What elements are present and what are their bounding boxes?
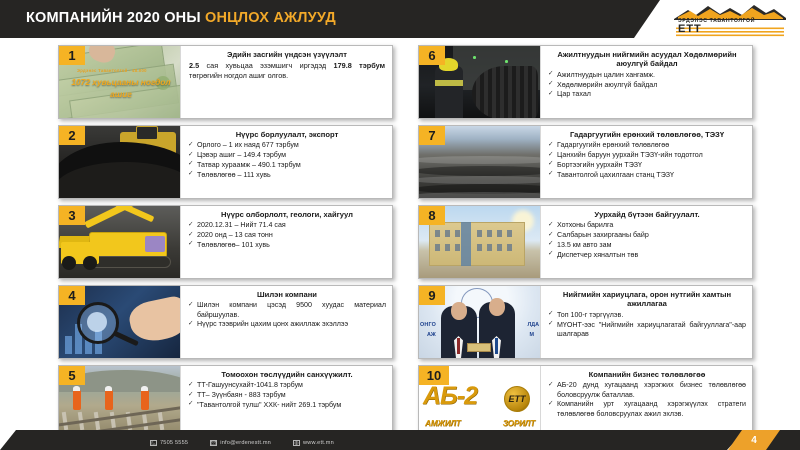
highlight-card-2[interactable]: 2 Нүүрс борлуулалт, экспорт ✓Орлого – 1 … xyxy=(58,125,393,199)
card-5-title: Томоохон төслүүдийн санхүүжилт. xyxy=(188,370,386,379)
card-2-image: 2 xyxy=(59,126,181,198)
list-item: ✓2020.12.31 – Нийт 71.4 сая xyxy=(188,221,386,230)
card-9-image-text-right2: М xyxy=(530,332,535,338)
card-3-title: Нүүрс олборлолт, геологи, хайгуул xyxy=(188,210,386,219)
check-icon: ✓ xyxy=(188,151,194,160)
highlight-card-3[interactable]: 3 Нүүрс олборлолт, геологи, хайгуул ✓202… xyxy=(58,205,393,279)
right-column: 6 Ажилтнуудын нийгмийн асуудал Хөдөлмөри… xyxy=(418,45,753,445)
page-title-plain: КОМПАНИЙН 2020 ОНЫ xyxy=(26,10,205,26)
card-3-bullets: ✓2020.12.31 – Нийт 71.4 сая ✓2020 онд – … xyxy=(188,221,386,250)
footer-website-label: www.ett.mn xyxy=(303,440,334,446)
card-6-bullets: ✓Ажилтнуудын цалин хангамж. ✓Хөдөлмөрийн… xyxy=(548,71,746,100)
card-10-bullets: ✓АБ-20 дунд хугацаанд хэрэгжих бизнес тө… xyxy=(548,381,746,419)
page-title-highlight: ОНЦЛОХ АЖЛУУД xyxy=(205,10,336,26)
card-4-number-badge: 4 xyxy=(59,286,85,305)
list-item-label: Компанийн урт хугацаанд хэрэгжүүлэх стра… xyxy=(557,400,746,417)
check-icon: ✓ xyxy=(548,250,554,259)
card-1-title: Эдийн засгийн үндсэн үзүүлэлт xyxy=(188,50,386,59)
ett-seal-label: ETT xyxy=(505,387,529,411)
card-6-image: 6 xyxy=(419,46,541,118)
check-icon: ✓ xyxy=(188,391,194,400)
list-item: ✓Диспетчер хяналтын төв xyxy=(548,251,746,260)
check-icon: ✓ xyxy=(548,141,554,150)
list-item: ✓Цар тахал xyxy=(548,90,746,99)
list-item-label: Цар тахал xyxy=(557,90,591,98)
list-item: ✓Хотхоны барилга xyxy=(548,221,746,230)
card-9-image-text-left: ОНГО xyxy=(420,322,436,328)
check-icon: ✓ xyxy=(548,160,554,169)
check-icon: ✓ xyxy=(548,221,554,230)
list-item-label: Нүүрс тээврийн цахим цонх ажиллаж эхэллэ… xyxy=(197,320,348,328)
card-5-body: Томоохон төслүүдийн санхүүжилт. ✓ТТ-Гашу… xyxy=(181,366,392,438)
card-3-number-badge: 3 xyxy=(59,206,85,225)
footer-website: www.ett.mn xyxy=(293,440,334,446)
card-9-image: ОНГО АЖ ЛДА М 9 xyxy=(419,286,541,358)
card-10-title: Компанийн бизнес төлөвлөгөө xyxy=(548,370,746,379)
list-item-label: Салбарын захиргааны байр xyxy=(557,231,649,239)
check-icon: ✓ xyxy=(188,400,194,409)
card-9-number-badge: 9 xyxy=(419,286,445,305)
list-item: ✓ТТ-Гашуунсухайт-1041.8 тэрбум xyxy=(188,381,386,390)
card-6-title: Ажилтнуудын нийгмийн асуудал Хөдөлмөрийн… xyxy=(548,50,746,69)
footer-contact-items: 7505 5555 info@erdenestt.mn www.ett.mn xyxy=(150,440,334,446)
list-item: ✓Хөдөлмөрийн аюулгүй байдал xyxy=(548,81,746,90)
check-icon: ✓ xyxy=(548,231,554,240)
card-3-image: 3 xyxy=(59,206,181,278)
list-item-label: ТТ-Гашуунсухайт-1041.8 тэрбум xyxy=(197,381,303,389)
card-5-image: 5 xyxy=(59,366,181,438)
card-9-image-text-right: ЛДА xyxy=(527,322,539,328)
card-4-body: Шилэн компани ✓Шилэн компани цэсэд 9500 … xyxy=(181,286,392,358)
card-7-image: 7 xyxy=(419,126,541,198)
card-4-title: Шилэн компани xyxy=(188,290,386,299)
check-icon: ✓ xyxy=(188,320,194,329)
card-1-image: Эрдэнэс Тавантолгой - 48.000 1072 хувьца… xyxy=(59,46,181,118)
list-item: ✓Салбарын захиргааны байр xyxy=(548,231,746,240)
list-item-label: Төлөвлөгөө– 101 хувь xyxy=(197,241,270,249)
list-item: ✓Татвар хураамж – 490.1 тэрбум xyxy=(188,161,386,170)
list-item-label: Цэвэр ашиг – 149.4 тэрбум xyxy=(197,151,286,159)
list-item: ✓Тавантолгой цахилгаан станц ТЭЗҮ xyxy=(548,171,746,180)
highlight-card-6[interactable]: 6 Ажилтнуудын нийгмийн асуудал Хөдөлмөри… xyxy=(418,45,753,119)
check-icon: ✓ xyxy=(188,160,194,169)
card-10-body: Компанийн бизнес төлөвлөгөө ✓АБ-20 дунд … xyxy=(541,366,752,438)
card-8-title: Уурхайд бүтээн байгуулалт. xyxy=(548,210,746,219)
card-8-body: Уурхайд бүтээн байгуулалт. ✓Хотхоны бари… xyxy=(541,206,752,278)
list-item: ✓ТТ– Зүүнбаян - 883 тэрбум xyxy=(188,391,386,400)
list-item: ✓Нүүрс тээврийн цахим цонх ажиллаж эхэлл… xyxy=(188,320,386,329)
list-item-label: Топ 100-г тэргүүлэв. xyxy=(557,311,623,319)
card-3-body: Нүүрс олборлолт, геологи, хайгуул ✓2020.… xyxy=(181,206,392,278)
card-9-body: Нийгмийн хариуцлага, орон нутгийн хамтын… xyxy=(541,286,752,358)
list-item-label: МҮОНТ-ээс "Нийгмийн хариуцлагатай байгуу… xyxy=(557,321,746,338)
card-8-bullets: ✓Хотхоны барилга ✓Салбарын захиргааны ба… xyxy=(548,221,746,260)
list-item-label: 2020 онд – 13 сая тонн xyxy=(197,231,273,239)
list-item-label: Тавантолгой цахилгаан станц ТЭЗҮ xyxy=(557,171,674,179)
list-item-label: Орлого – 1 их наяд 677 тэрбум xyxy=(197,141,299,149)
list-item: ✓Төлөвлөгөө– 101 хувь xyxy=(188,241,386,250)
card-7-number-badge: 7 xyxy=(419,126,445,145)
ab-20-sub-left: АМЖИЛТ xyxy=(425,419,461,428)
check-icon: ✓ xyxy=(548,400,554,409)
check-icon: ✓ xyxy=(188,170,194,179)
list-item-label: Гадаргуугийн ерөнхий төлөвлөгөө xyxy=(557,141,669,149)
check-icon: ✓ xyxy=(548,151,554,160)
list-item: ✓МҮОНТ-ээс "Нийгмийн хариуцлагатай байгу… xyxy=(548,321,746,339)
list-item: ✓Шилэн компани цэсэд 9500 хуудас материа… xyxy=(188,301,386,319)
card-8-number-badge: 8 xyxy=(419,206,445,225)
list-item-label: Төлөвлөгөө – 111 хувь xyxy=(197,171,271,179)
slide-number-label: 4 xyxy=(751,435,757,446)
card-6-body: Ажилтнуудын нийгмийн асуудал Хөдөлмөрийн… xyxy=(541,46,752,118)
list-item-label: Ажилтнуудын цалин хангамж. xyxy=(557,71,655,79)
slide-footer: 7505 5555 info@erdenestt.mn www.ett.mn 4 xyxy=(0,430,800,450)
phone-icon xyxy=(150,440,157,446)
card-6-number-badge: 6 xyxy=(419,46,445,65)
check-icon: ✓ xyxy=(188,221,194,230)
card-4-image: 4 xyxy=(59,286,181,358)
card-1-number-badge: 1 xyxy=(59,46,85,65)
card-7-body: Гадаргуугийн ерөнхий төлөвлөгөө, ТЭЗҮ ✓Г… xyxy=(541,126,752,198)
list-item: ✓Орлого – 1 их наяд 677 тэрбум xyxy=(188,141,386,150)
card-9-bullets: ✓Топ 100-г тэргүүлэв. ✓МҮОНТ-ээс "Нийгми… xyxy=(548,311,746,340)
card-8-image: 8 xyxy=(419,206,541,278)
check-icon: ✓ xyxy=(188,381,194,390)
list-item-label: Бортээгийн уурхайн ТЭЗҮ xyxy=(557,161,642,169)
left-column: Эрдэнэс Тавантолгой - 48.000 1072 хувьца… xyxy=(58,45,393,445)
check-icon: ✓ xyxy=(548,170,554,179)
check-icon: ✓ xyxy=(548,320,554,329)
check-icon: ✓ xyxy=(188,231,194,240)
card-1-overlay-small: Эрдэнэс Тавантолгой - 48.000 xyxy=(77,68,147,73)
card-1-overlay-main: 1072 хувьцааны ногдол ашиг xyxy=(67,76,175,100)
check-icon: ✓ xyxy=(548,70,554,79)
card-1-body: Эдийн засгийн үндсэн үзүүлэлт 2.5 сая ху… xyxy=(181,46,392,118)
list-item: ✓Топ 100-г тэргүүлэв. xyxy=(548,311,746,320)
list-item-label: ТТ– Зүүнбаян - 883 тэрбум xyxy=(197,391,286,399)
card-1-paragraph: 2.5 сая хувьцаа эзэмшигч иргэдэд 179.8 т… xyxy=(188,61,386,81)
page-title: КОМПАНИЙН 2020 ОНЫ ОНЦЛОХ АЖЛУУД xyxy=(26,10,336,26)
card-4-bullets: ✓Шилэн компани цэсэд 9500 хуудас материа… xyxy=(188,301,386,330)
slide-header: КОМПАНИЙН 2020 ОНЫ ОНЦЛОХ АЖЛУУД ЭРДЭНЭС… xyxy=(0,0,800,38)
card-2-body: Нүүрс борлуулалт, экспорт ✓Орлого – 1 их… xyxy=(181,126,392,198)
logo-abbreviation: ETT xyxy=(678,24,702,35)
list-item: ✓Бортээгийн уурхайн ТЭЗҮ xyxy=(548,161,746,170)
footer-phone: 7505 5555 xyxy=(150,440,188,446)
list-item-label: Диспетчер хяналтын төв xyxy=(557,251,638,259)
list-item: ✓2020 онд – 13 сая тонн xyxy=(188,231,386,240)
list-item-label: Хотхоны барилга xyxy=(557,221,613,229)
list-item-label: 13.5 км авто зам xyxy=(557,241,611,249)
card-2-title: Нүүрс борлуулалт, экспорт xyxy=(188,130,386,139)
card-7-title: Гадаргуугийн ерөнхий төлөвлөгөө, ТЭЗҮ xyxy=(548,130,746,139)
check-icon: ✓ xyxy=(548,240,554,249)
list-item: ✓"Тавантолгой тулш" ХХК- нийт 269.1 тэрб… xyxy=(188,401,386,410)
footer-banner xyxy=(0,430,745,450)
card-1-value-2: 179.8 тэрбум xyxy=(334,61,385,70)
highlight-card-5[interactable]: 5 Томоохон төслүүдийн санхүүжилт. ✓ТТ-Га… xyxy=(58,365,393,439)
highlight-card-8[interactable]: 8 Уурхайд бүтээн байгуулалт. ✓Хотхоны ба… xyxy=(418,205,753,279)
highlight-card-1[interactable]: Эрдэнэс Тавантолгой - 48.000 1072 хувьца… xyxy=(58,45,393,119)
card-5-number-badge: 5 xyxy=(59,366,85,385)
card-9-title: Нийгмийн хариуцлага, орон нутгийн хамтын… xyxy=(548,290,746,309)
list-item: ✓Төлөвлөгөө – 111 хувь xyxy=(188,171,386,180)
list-item: ✓Компанийн урт хугацаанд хэрэгжүүлэх стр… xyxy=(548,400,746,418)
check-icon: ✓ xyxy=(548,310,554,319)
highlight-card-7[interactable]: 7 Гадаргуугийн ерөнхий төлөвлөгөө, ТЭЗҮ … xyxy=(418,125,753,199)
company-logo: ЭРДЭНЭС ТАВАНТОЛГОЙ ETT xyxy=(670,3,790,37)
check-icon: ✓ xyxy=(548,90,554,99)
presentation-slide: КОМПАНИЙН 2020 ОНЫ ОНЦЛОХ АЖЛУУД ЭРДЭНЭС… xyxy=(0,0,800,450)
list-item-label: Шилэн компани цэсэд 9500 хуудас материал… xyxy=(197,301,386,318)
list-item: ✓Ажилтнуудын цалин хангамж. xyxy=(548,71,746,80)
list-item-label: "Тавантолгой тулш" ХХК- нийт 269.1 тэрбу… xyxy=(197,401,341,409)
ab-20-main-text: АБ-2 xyxy=(423,382,477,411)
check-icon: ✓ xyxy=(188,240,194,249)
list-item: ✓13.5 км авто зам xyxy=(548,241,746,250)
card-10-number-badge: 10 xyxy=(419,366,449,385)
list-item-label: 2020.12.31 – Нийт 71.4 сая xyxy=(197,221,286,229)
list-item: ✓Гадаргуугийн ерөнхий төлөвлөгөө xyxy=(548,141,746,150)
check-icon: ✓ xyxy=(548,80,554,89)
ab-20-subtitles: АМЖИЛТ ЗОРИЛТ xyxy=(425,419,535,428)
card-2-bullets: ✓Орлого – 1 их наяд 677 тэрбум ✓Цэвэр аш… xyxy=(188,141,386,180)
check-icon: ✓ xyxy=(548,381,554,390)
card-5-bullets: ✓ТТ-Гашуунсухайт-1041.8 тэрбум ✓ТТ– Зүүн… xyxy=(188,381,386,410)
footer-email-label: info@erdenestt.mn xyxy=(220,440,271,446)
list-item-label: Хөдөлмөрийн аюулгүй байдал xyxy=(557,81,657,89)
footer-email: info@erdenestt.mn xyxy=(210,440,271,446)
card-10-image: АБ-2 ETT АМЖИЛТ ЗОРИЛТ 10 xyxy=(419,366,541,438)
card-9-image-text-left2: АЖ xyxy=(427,332,436,338)
card-7-bullets: ✓Гадаргуугийн ерөнхий төлөвлөгөө ✓Цанхий… xyxy=(548,141,746,180)
list-item-label: Татвар хураамж – 490.1 тэрбум xyxy=(197,161,301,169)
envelope-icon xyxy=(210,440,217,446)
footer-phone-label: 7505 5555 xyxy=(160,440,188,446)
check-icon: ✓ xyxy=(188,301,194,310)
highlight-card-4[interactable]: 4 Шилэн компани ✓Шилэн компани цэсэд 950… xyxy=(58,285,393,359)
card-2-number-badge: 2 xyxy=(59,126,85,145)
highlight-card-10[interactable]: АБ-2 ETT АМЖИЛТ ЗОРИЛТ 10 Компанийн бизн… xyxy=(418,365,753,439)
list-item-label: Цанхийн баруун уурхайн ТЭЗҮ-ийн тодотгол xyxy=(557,151,703,159)
list-item: ✓АБ-20 дунд хугацаанд хэрэгжих бизнес тө… xyxy=(548,381,746,399)
card-1-value-1: 2.5 xyxy=(189,61,199,70)
check-icon: ✓ xyxy=(188,141,194,150)
list-item: ✓Цэвэр ашиг – 149.4 тэрбум xyxy=(188,151,386,160)
globe-icon xyxy=(293,440,300,446)
highlight-card-9[interactable]: ОНГО АЖ ЛДА М 9 Нийгмийн хариуцлага, оро… xyxy=(418,285,753,359)
list-item: ✓Цанхийн баруун уурхайн ТЭЗҮ-ийн тодотго… xyxy=(548,151,746,160)
ett-seal-icon: ETT xyxy=(504,386,530,412)
ab-20-sub-right: ЗОРИЛТ xyxy=(503,419,535,428)
list-item-label: АБ-20 дунд хугацаанд хэрэгжих бизнес төл… xyxy=(557,381,746,398)
